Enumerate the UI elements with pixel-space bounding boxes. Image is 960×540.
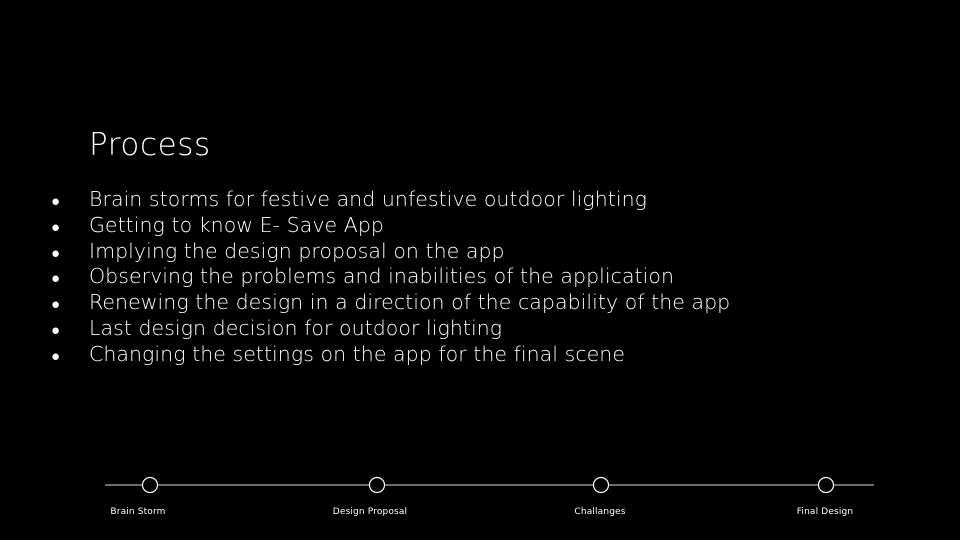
- bullet-point-icon: ●: [48, 292, 89, 318]
- list-item-label: Observing the problems and inabilities o…: [89, 264, 674, 290]
- timeline-label-challanges: Challanges: [574, 507, 625, 517]
- timeline-node-marker: [370, 478, 385, 493]
- page-title: Process: [89, 130, 211, 161]
- bullet-point-icon: ●: [48, 215, 89, 241]
- bullet-point-icon: ●: [48, 241, 89, 267]
- process-bullet-list: ● Brain storms for festive and unfestive…: [48, 187, 928, 368]
- timeline-node-marker: [819, 478, 834, 493]
- list-item: ● Observing the problems and inabilities…: [48, 264, 928, 290]
- bullet-point-icon: ●: [48, 189, 89, 215]
- slide-canvas: Process ● Brain storms for festive and u…: [0, 0, 960, 540]
- list-item-label: Last design decision for outdoor lightin…: [89, 316, 502, 342]
- list-item: ● Getting to know E- Save App: [48, 213, 928, 239]
- list-item-label: Brain storms for festive and unfestive o…: [89, 187, 647, 213]
- timeline-node-marker: [143, 478, 158, 493]
- list-item-label: Renewing the design in a direction of th…: [89, 290, 730, 316]
- list-item: ● Changing the settings on the app for t…: [48, 342, 928, 368]
- bullet-point-icon: ●: [48, 266, 89, 292]
- list-item: ● Implying the design proposal on the ap…: [48, 239, 928, 265]
- list-item-label: Getting to know E- Save App: [89, 213, 384, 239]
- list-item: ● Last design decision for outdoor light…: [48, 316, 928, 342]
- timeline-node-marker: [594, 478, 609, 493]
- list-item: ● Brain storms for festive and unfestive…: [48, 187, 928, 213]
- bullet-point-icon: ●: [48, 344, 89, 370]
- list-item-label: Changing the settings on the app for the…: [89, 342, 625, 368]
- bullet-point-icon: ●: [48, 318, 89, 344]
- list-item-label: Implying the design proposal on the app: [89, 239, 505, 265]
- timeline-label-brain-storm: Brain Storm: [110, 507, 165, 517]
- list-item: ● Renewing the design in a direction of …: [48, 290, 928, 316]
- timeline-label-design-proposal: Design Proposal: [333, 507, 407, 517]
- timeline-label-final-design: Final Design: [797, 507, 853, 517]
